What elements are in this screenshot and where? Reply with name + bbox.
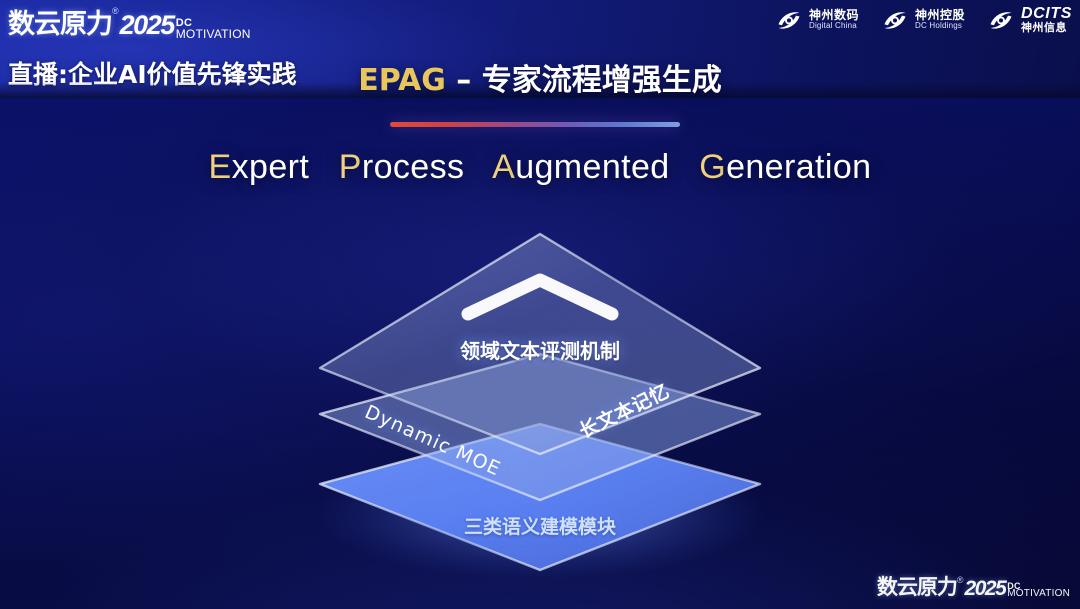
logo-dc-holdings: 神州控股 DC Holdings (881, 6, 965, 34)
subtitle-word-expert: Expert (209, 148, 310, 186)
subtitle-word-generation: Generation (699, 148, 871, 186)
subtitle-word-augmented: Augmented (492, 148, 670, 186)
swirl-icon (987, 6, 1015, 34)
corporate-logo-group: 神州数码 Digital China 神州控股 DC Holdings (775, 5, 1072, 34)
event-logo-dc-motivation: DC MOTIVATION (176, 19, 251, 41)
slide-canvas: 数云原力 ® 2025 DC MOTIVATION 直播:企业AI价值先锋实践 (0, 0, 1080, 609)
watermark-year: 2025 (965, 577, 1006, 601)
logo-dc-holdings-cn: 神州控股 (915, 9, 965, 22)
logo-digital-china-cn: 神州数码 (809, 9, 859, 22)
logo-dcits: DCITS 神州信息 (987, 5, 1072, 34)
logo-dcits-en: DCITS (1021, 5, 1072, 22)
swirl-icon (881, 6, 909, 34)
logo-digital-china: 神州数码 Digital China (775, 6, 859, 34)
footer-watermark-logo: 数云原力 ® 2025 DC MOTIVATION (877, 571, 1070, 601)
watermark-registered: ® (957, 571, 964, 585)
title-dash: – (446, 63, 482, 98)
logo-dc-holdings-en: DC Holdings (915, 22, 965, 31)
gradient-divider (390, 122, 680, 127)
event-logo-cn: 数云原力 (8, 2, 112, 41)
event-logo-year: 2025 (120, 10, 174, 41)
subtitle-space-3 (679, 148, 689, 186)
subtitle-space-1 (319, 148, 329, 186)
event-logo: 数云原力 ® 2025 DC MOTIVATION (8, 2, 251, 41)
subtitle-word-process: Process (339, 148, 465, 186)
event-logo-motivation: MOTIVATION (176, 29, 251, 39)
logo-digital-china-en: Digital China (809, 22, 859, 31)
subtitle-space-2 (474, 148, 484, 186)
layer-label-top: 领域文本评测机制 (290, 335, 790, 364)
watermark-motivation: MOTIVATION (1007, 590, 1070, 599)
layered-architecture-diagram: 领域文本评测机制 Dynamic MOE 长文本记忆 三类语义建模模块 (290, 222, 790, 582)
subtitle-expanded-acronym: Expert Process Augmented Generation (0, 148, 1080, 187)
title-acronym: EPAG (358, 63, 446, 98)
watermark-dc-motivation: DC MOTIVATION (1007, 583, 1070, 601)
swirl-icon (775, 6, 803, 34)
title-chinese: 专家流程增强生成 (482, 63, 722, 98)
event-logo-registered: ® (112, 2, 119, 16)
layer-label-bottom: 三类语义建模模块 (290, 512, 790, 539)
logo-dcits-cn: 神州信息 (1021, 22, 1072, 34)
watermark-cn: 数云原力 (877, 571, 957, 601)
page-title: EPAG – 专家流程增强生成 (0, 55, 1080, 99)
